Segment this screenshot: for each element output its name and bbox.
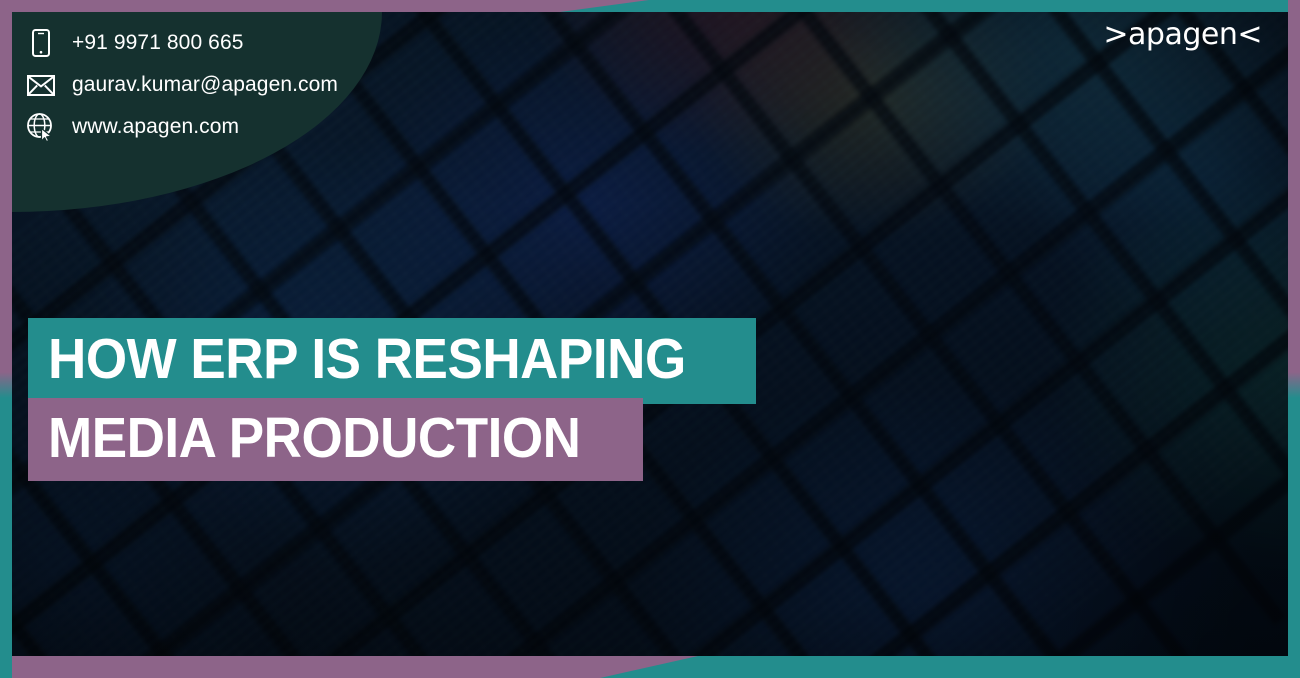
mobile-phone-icon xyxy=(26,28,56,58)
frame-bottom-purple-segment xyxy=(0,656,700,678)
envelope-icon xyxy=(26,70,56,100)
contact-list: +91 9971 800 665 gaurav.kumar@apagen.com xyxy=(26,26,338,144)
frame-left-blend-segment xyxy=(0,372,12,398)
frame-top-teal-segment xyxy=(560,0,1300,12)
headline-text-line-1: HOW ERP IS RESHAPING xyxy=(48,331,686,388)
contact-item-email[interactable]: gaurav.kumar@apagen.com xyxy=(26,68,338,102)
contact-item-website[interactable]: www.apagen.com xyxy=(26,110,338,144)
frame-right-teal-segment xyxy=(1288,372,1300,678)
headline-banner-line-1: HOW ERP IS RESHAPING xyxy=(28,318,756,404)
contact-item-phone[interactable]: +91 9971 800 665 xyxy=(26,26,338,60)
frame-top-purple-segment xyxy=(0,0,660,12)
frame-left-teal-segment xyxy=(0,372,12,678)
globe-cursor-icon xyxy=(26,112,56,142)
headline-banner-line-2: MEDIA PRODUCTION xyxy=(28,398,643,481)
frame-right-purple-segment xyxy=(1288,0,1300,392)
contact-phone-text: +91 9971 800 665 xyxy=(72,31,244,55)
blog-banner: +91 9971 800 665 gaurav.kumar@apagen.com xyxy=(0,0,1300,678)
frame-right-blend-segment xyxy=(1288,372,1300,398)
apagen-logo[interactable]: >apagen< xyxy=(1103,17,1262,52)
frame-left-purple-segment xyxy=(0,0,12,392)
contact-website-text: www.apagen.com xyxy=(72,115,239,139)
frame-bottom-teal-segment xyxy=(600,656,1300,678)
contact-email-text: gaurav.kumar@apagen.com xyxy=(72,73,338,97)
headline-text-line-2: MEDIA PRODUCTION xyxy=(48,410,580,467)
